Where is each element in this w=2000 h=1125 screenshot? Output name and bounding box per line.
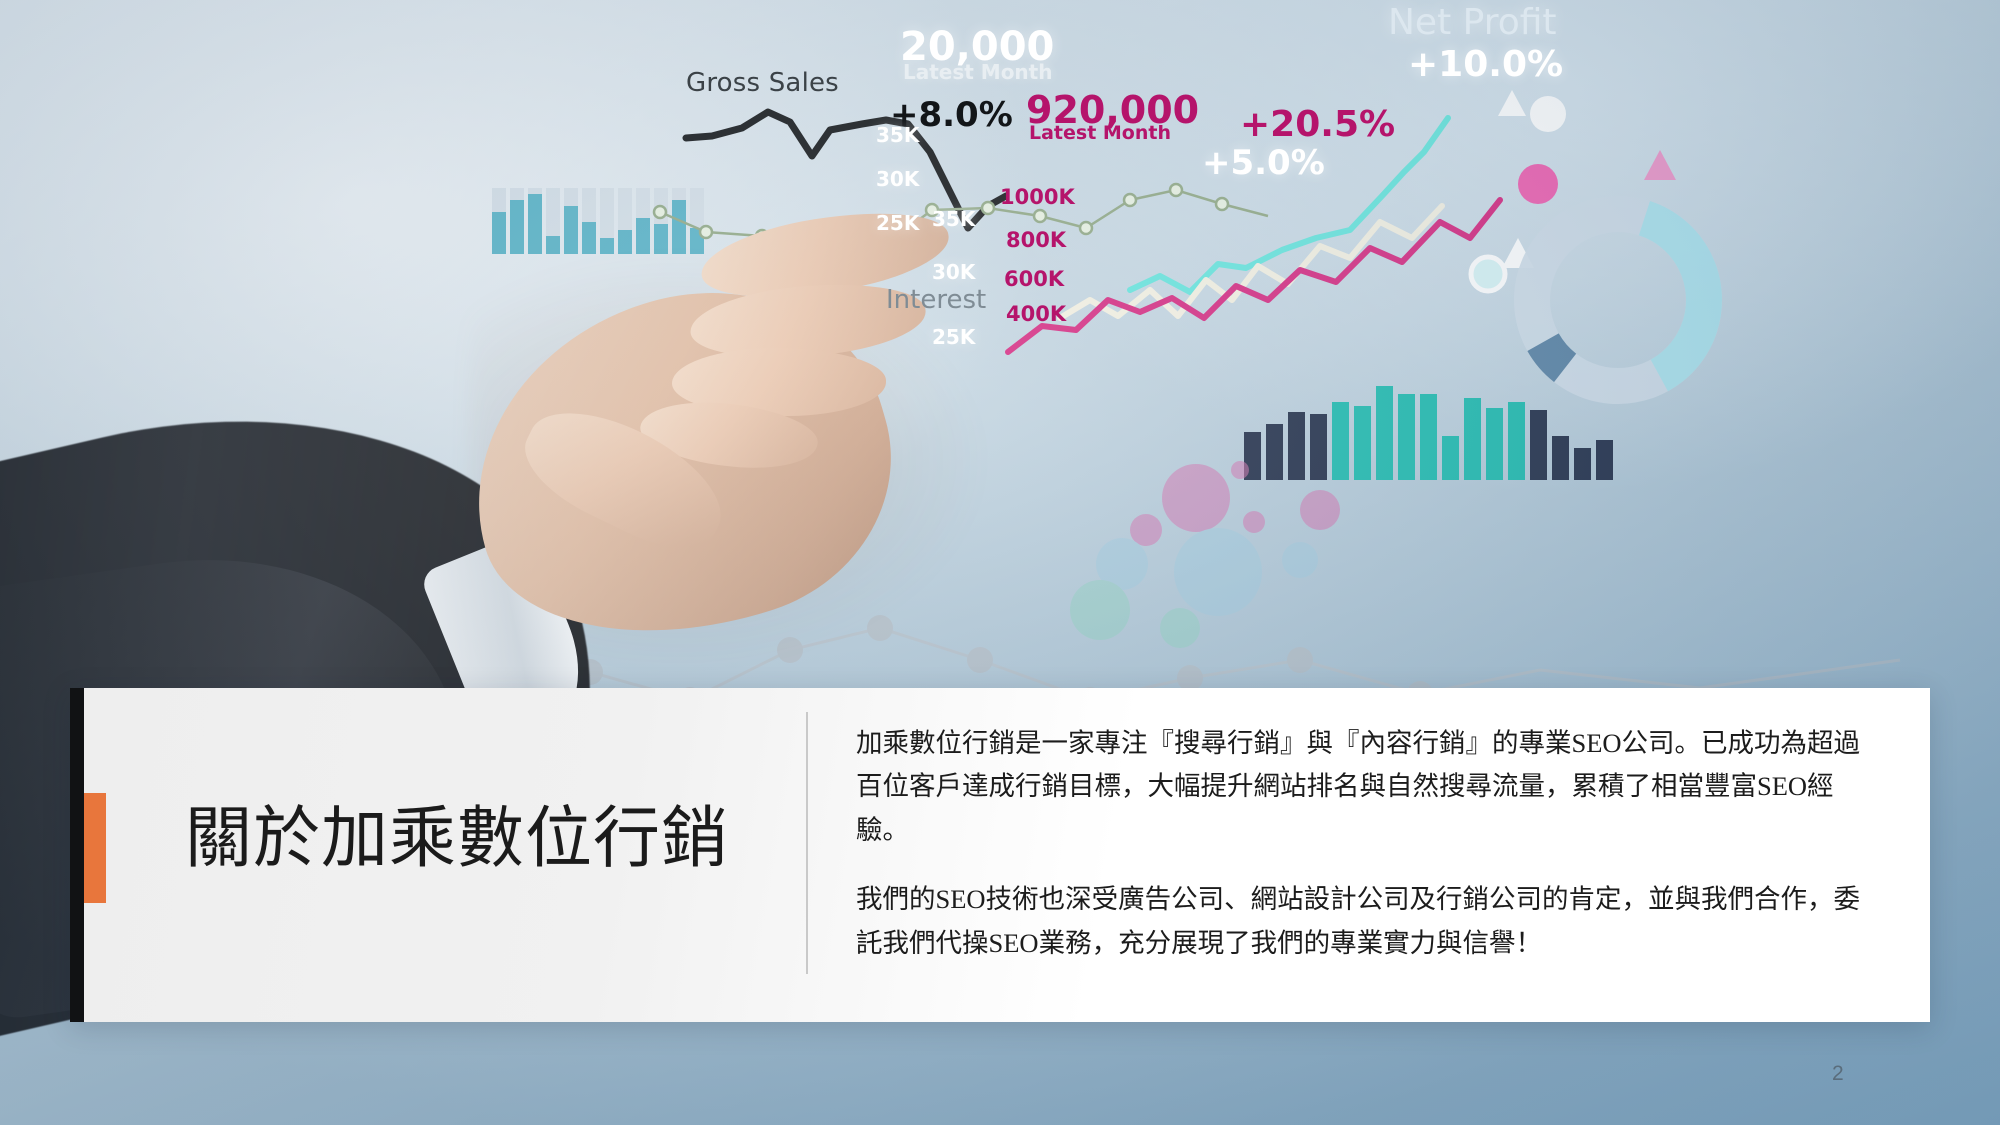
vertical-divider — [806, 712, 808, 974]
page-number: 2 — [1832, 1062, 1844, 1086]
axis-tick-800k: 800K — [1006, 228, 1066, 252]
body-text: 加乘數位行銷是一家專注『搜尋行銷』與『內容行銷』的專業SEO公司。已成功為超過百… — [856, 722, 1876, 965]
body-paragraph-2: 我們的SEO技術也深受廣告公司、網站設計公司及行銷公司的肯定，並與我們合作，委託… — [856, 878, 1876, 965]
label-gross-sales: Gross Sales — [686, 68, 839, 98]
label-interest: Interest — [886, 285, 986, 315]
axis-tick-600k: 600K — [1004, 267, 1064, 291]
slide-canvas: Gross Sales Interest Net Profit 20,000 L… — [0, 0, 2000, 1125]
card-left-dark-edge — [70, 688, 84, 1022]
axis-tick-35k-b: 35K — [932, 207, 975, 231]
axis-tick-25k-b: 25K — [932, 325, 975, 349]
label-net-profit: Net Profit — [1388, 2, 1557, 43]
axis-tick-30k-a: 30K — [876, 167, 919, 191]
metric-latest-month-caption-magenta: Latest Month — [1029, 122, 1171, 144]
axis-tick-35k-a: 35K — [876, 123, 919, 147]
metric-pct-10: +10.0% — [1408, 44, 1563, 85]
body-paragraph-1: 加乘數位行銷是一家專注『搜尋行銷』與『內容行銷』的專業SEO公司。已成功為超過百… — [856, 722, 1876, 852]
metric-pct-20-5: +20.5% — [1240, 104, 1395, 145]
axis-tick-25k-a: 25K — [876, 211, 919, 235]
axis-tick-400k: 400K — [1006, 302, 1066, 326]
metric-pct-5: +5.0% — [1202, 143, 1325, 183]
axis-tick-30k-b: 30K — [932, 260, 975, 284]
page-title: 關於加乘數位行銷 — [185, 805, 729, 873]
title-accent-bar — [84, 793, 106, 903]
axis-tick-1000k: 1000K — [1000, 185, 1075, 209]
metric-latest-month-caption-white: Latest Month — [903, 60, 1052, 84]
